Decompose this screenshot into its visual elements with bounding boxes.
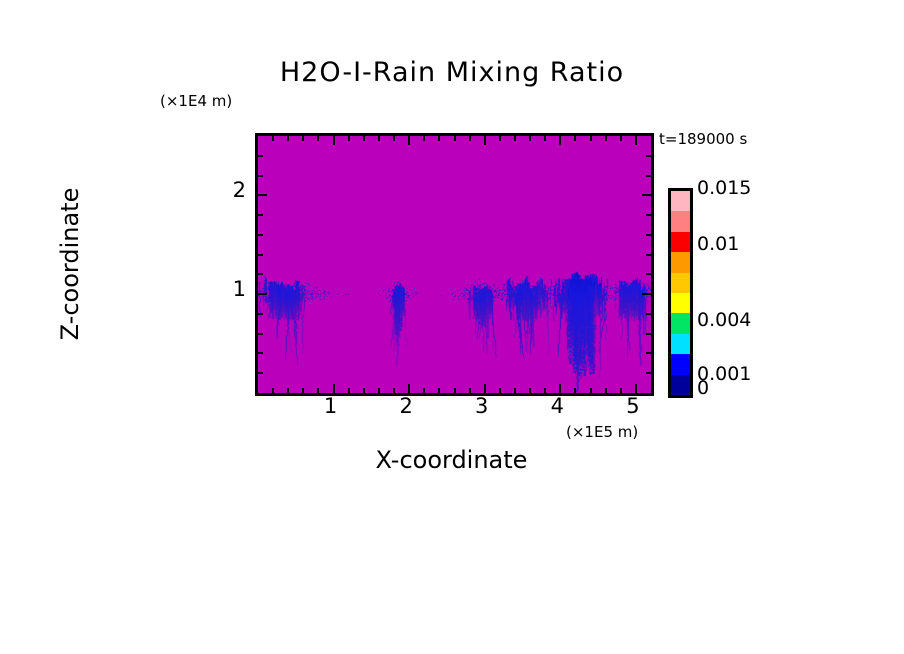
x-tick-3.6: [529, 388, 531, 393]
colorbar-label-0: 0: [697, 377, 709, 399]
x-tick-1.2: [348, 388, 350, 393]
x-tick-1.4: [363, 388, 365, 393]
x-tick-0.2: [272, 388, 274, 393]
y-tick-1.4: [258, 254, 263, 256]
colorbar-label-0.015: 0.015: [697, 177, 751, 199]
y-tick-right-1.8: [646, 214, 651, 216]
colorbar-band-0: [671, 191, 690, 211]
y-tick-label-2: 2: [206, 178, 246, 202]
colorbar-label-0.004: 0.004: [697, 309, 751, 331]
y-tick-right-1: [642, 293, 651, 295]
colorbar: [668, 188, 693, 398]
x-tick-4.6: [605, 388, 607, 393]
colorbar-band-1: [671, 211, 690, 231]
y-tick-1: [258, 293, 267, 295]
y-tick-right-1.4: [646, 254, 651, 256]
x-tick-label-2: 2: [386, 394, 426, 418]
colorbar-band-9: [671, 375, 690, 395]
y-tick-right-0.8: [646, 313, 651, 315]
x-tick-top-3.2: [499, 136, 501, 141]
x-tick-3.4: [514, 388, 516, 393]
y-tick-right-0.4: [646, 352, 651, 354]
plot-area: [255, 133, 654, 396]
x-tick-top-2.2: [423, 136, 425, 141]
y-tick-right-0.2: [646, 372, 651, 374]
x-tick-top-2.6: [454, 136, 456, 141]
x-axis-unit-label: (×1E5 m): [566, 423, 638, 441]
x-tick-2.2: [423, 388, 425, 393]
y-tick-right-1.6: [646, 234, 651, 236]
x-tick-top-1.2: [348, 136, 350, 141]
colorbar-band-5: [671, 293, 690, 313]
x-tick-top-4.6: [605, 136, 607, 141]
x-tick-3: [484, 384, 486, 393]
x-tick-top-2.8: [469, 136, 471, 141]
y-tick-2.4: [258, 155, 263, 157]
x-axis-title: X-coordinate: [255, 446, 648, 474]
x-tick-2.8: [469, 388, 471, 393]
y-tick-right-0.6: [646, 333, 651, 335]
x-tick-4.8: [620, 388, 622, 393]
x-tick-top-1.4: [363, 136, 365, 141]
x-tick-4.2: [574, 388, 576, 393]
x-tick-top-3.8: [544, 136, 546, 141]
y-tick-right-1.2: [646, 273, 651, 275]
y-tick-right-2.4: [646, 155, 651, 157]
page-title: H2O-I-Rain Mixing Ratio: [0, 57, 904, 88]
x-tick-top-4.8: [620, 136, 622, 141]
x-tick-3.2: [499, 388, 501, 393]
x-tick-top-4.2: [574, 136, 576, 141]
x-tick-label-3: 3: [462, 394, 502, 418]
y-tick-2.2: [258, 175, 263, 177]
x-tick-top-1: [333, 136, 335, 145]
colorbar-band-8: [671, 354, 690, 374]
x-tick-5: [635, 384, 637, 393]
x-tick-0.8: [317, 388, 319, 393]
x-tick-top-3: [484, 136, 486, 145]
colorbar-band-6: [671, 313, 690, 333]
x-tick-1.6: [378, 388, 380, 393]
x-tick-label-5: 5: [613, 394, 653, 418]
y-tick-label-1: 1: [206, 277, 246, 301]
y-axis-unit-label: (×1E4 m): [160, 92, 232, 110]
x-tick-top-4: [559, 136, 561, 145]
rain-mixing-ratio-heatmap: [258, 136, 651, 393]
x-tick-top-1.8: [393, 136, 395, 141]
x-tick-top-0.4: [287, 136, 289, 141]
x-tick-1: [333, 384, 335, 393]
y-tick-2: [258, 194, 267, 196]
colorbar-band-4: [671, 273, 690, 293]
y-axis-title: Z-coordinate: [56, 134, 84, 394]
x-tick-top-0.8: [317, 136, 319, 141]
y-tick-0.2: [258, 372, 263, 374]
y-tick-0.6: [258, 333, 263, 335]
colorbar-band-2: [671, 232, 690, 252]
x-tick-top-3.6: [529, 136, 531, 141]
colorbar-label-0.01: 0.01: [697, 233, 739, 255]
x-tick-top-0.6: [302, 136, 304, 141]
colorbar-band-3: [671, 252, 690, 272]
x-tick-2: [408, 384, 410, 393]
x-tick-top-5: [635, 136, 637, 145]
x-tick-0.4: [287, 388, 289, 393]
x-tick-top-2: [408, 136, 410, 145]
x-tick-4: [559, 384, 561, 393]
x-tick-top-3.4: [514, 136, 516, 141]
x-tick-1.8: [393, 388, 395, 393]
y-tick-0.8: [258, 313, 263, 315]
x-tick-label-4: 4: [537, 394, 577, 418]
y-tick-0.4: [258, 352, 263, 354]
colorbar-band-7: [671, 334, 690, 354]
y-tick-1.2: [258, 273, 263, 275]
x-tick-0.6: [302, 388, 304, 393]
time-annotation: t=189000 s: [659, 130, 747, 148]
y-tick-right-2: [642, 194, 651, 196]
x-tick-2.4: [438, 388, 440, 393]
x-tick-top-1.6: [378, 136, 380, 141]
y-tick-1.6: [258, 234, 263, 236]
x-tick-label-1: 1: [311, 394, 351, 418]
y-tick-right-2.2: [646, 175, 651, 177]
x-tick-top-2.4: [438, 136, 440, 141]
x-tick-4.4: [590, 388, 592, 393]
x-tick-top-0.2: [272, 136, 274, 141]
x-tick-top-4.4: [590, 136, 592, 141]
x-tick-2.6: [454, 388, 456, 393]
x-tick-3.8: [544, 388, 546, 393]
y-tick-1.8: [258, 214, 263, 216]
